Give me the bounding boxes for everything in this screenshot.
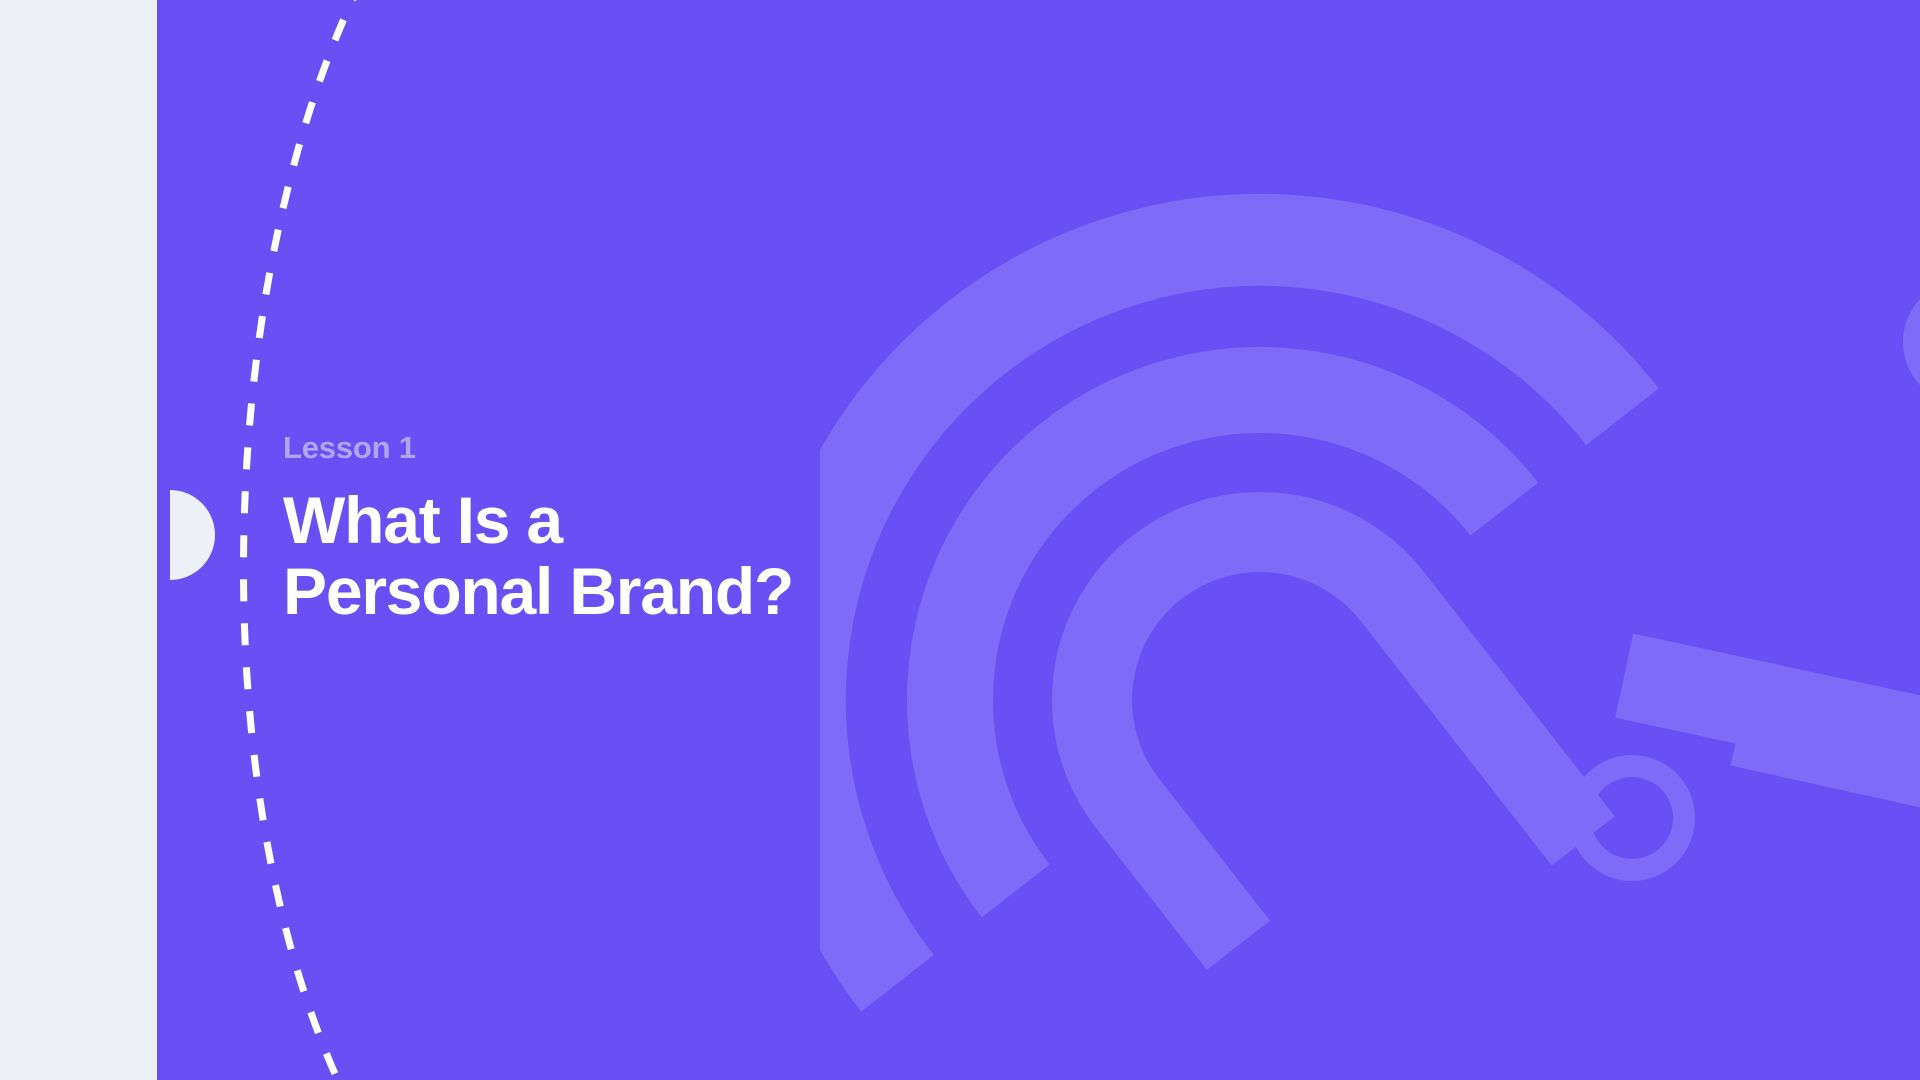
magnet-arcs-artwork	[820, 0, 1920, 1080]
lesson-title-slide: Lesson 1 What Is a Personal Brand?	[0, 0, 1920, 1080]
slide-title: What Is a Personal Brand?	[283, 485, 793, 628]
left-gutter-band	[0, 0, 157, 1080]
lesson-eyebrow-label: Lesson 1	[283, 432, 793, 463]
slide-text-block: Lesson 1 What Is a Personal Brand?	[283, 432, 793, 628]
